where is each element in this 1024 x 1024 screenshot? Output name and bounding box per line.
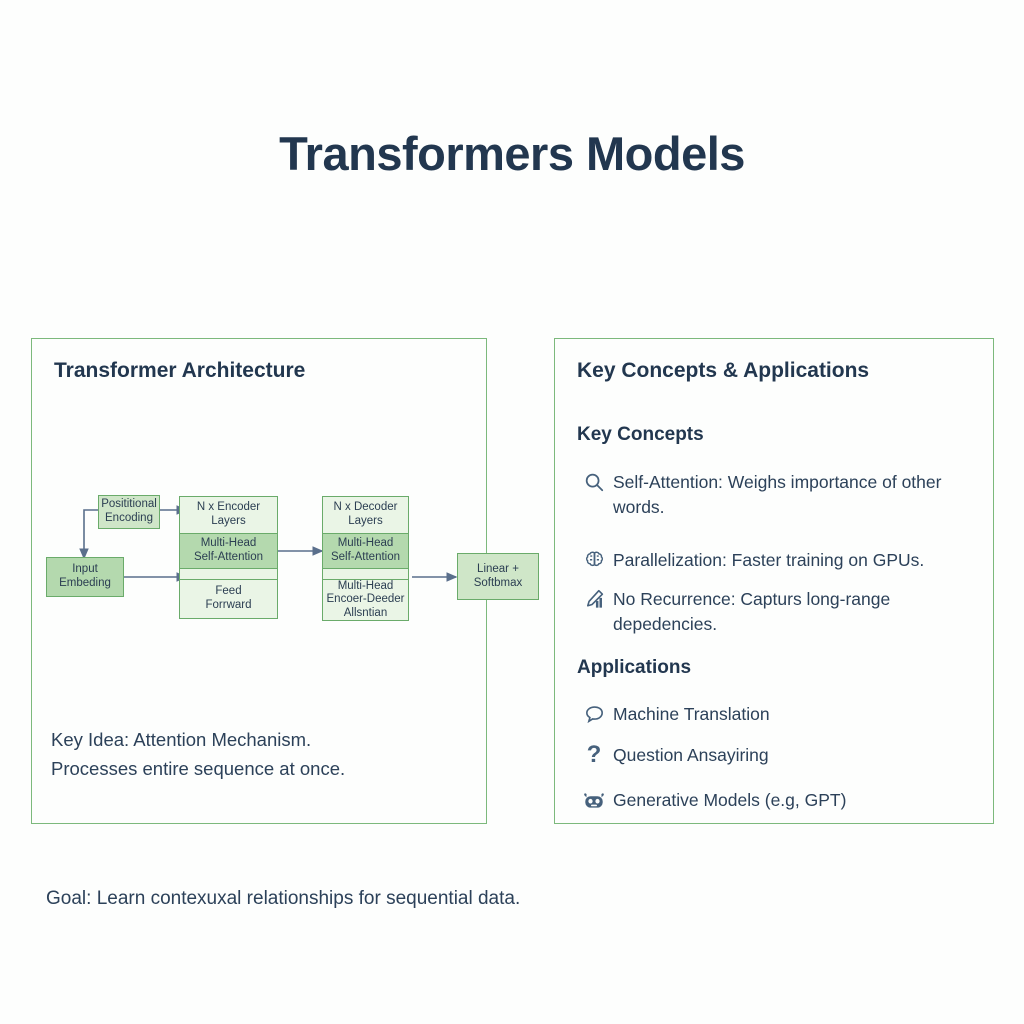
box-feed-forward: Feed Forrward	[179, 579, 278, 619]
box-linear-softmax: Linear + Softbmax	[457, 553, 539, 600]
application-item-generative-models: Generative Models (e.g, GPT)	[575, 787, 979, 813]
application-item-machine-translation-label: Machine Translation	[613, 701, 770, 727]
application-item-question-answering: ? Question Ansayiring	[575, 742, 979, 768]
box-encoder-layers: N x Encoder Layers	[179, 496, 278, 534]
key-concepts-applications-card: Key Concepts & Applications Key Concepts…	[554, 338, 994, 824]
key-idea-line-1: Key Idea: Attention Mechanism.	[51, 726, 451, 755]
box-encoder-decoder-attention: Multi-Head Encoer-Deeder Allsntian	[322, 579, 409, 621]
concept-item-self-attention: Self-Attention: Weighs importance of oth…	[575, 469, 979, 521]
robot-icon	[575, 787, 613, 813]
box-linear-softmax-label: Linear + Softbmax	[474, 563, 523, 590]
concept-item-no-recurrence-label: No Recurrence: Capturs long-range depede…	[613, 586, 979, 638]
footer-goal-text: Goal: Learn contexuxal relationships for…	[46, 888, 520, 910]
brain-icon	[575, 547, 613, 573]
right-card-heading: Key Concepts & Applications	[577, 359, 869, 383]
box-encoder-layers-label: N x Encoder Layers	[197, 501, 260, 528]
box-feed-forward-label: Feed Forrward	[205, 585, 251, 612]
key-idea-line-2: Processes entire sequence at once.	[51, 755, 451, 784]
box-encoder-self-attention-label: Multi-Head Self-Attention	[194, 537, 263, 564]
key-concepts-heading: Key Concepts	[577, 424, 704, 446]
speech-bubble-icon	[575, 701, 613, 727]
concept-item-parallelization-label: Parallelization: Faster training on GPUs…	[613, 547, 924, 573]
concept-item-self-attention-label: Self-Attention: Weighs importance of oth…	[613, 469, 979, 521]
box-decoder-layers-label: N x Decoder Layers	[334, 501, 398, 528]
pencil-chart-icon	[575, 586, 613, 612]
application-item-question-answering-label: Question Ansayiring	[613, 742, 769, 768]
application-item-generative-models-label: Generative Models (e.g, GPT)	[613, 787, 846, 813]
box-encoder-decoder-attention-label: Multi-Head Encoer-Deeder Allsntian	[327, 580, 405, 621]
box-input-embedding-label: Input Embeding	[59, 563, 111, 590]
concept-item-parallelization: Parallelization: Faster training on GPUs…	[575, 547, 979, 573]
magnifier-icon	[575, 469, 613, 495]
box-decoder-layers: N x Decoder Layers	[322, 496, 409, 534]
applications-heading: Applications	[577, 657, 691, 679]
box-encoder-self-attention: Multi-Head Self-Attention	[179, 533, 278, 569]
concept-item-no-recurrence: No Recurrence: Capturs long-range depede…	[575, 586, 979, 638]
box-input-embedding: Input Embeding	[46, 557, 124, 597]
application-item-machine-translation: Machine Translation	[575, 701, 979, 727]
question-mark-icon: ?	[575, 742, 613, 768]
box-positional-encoding-label: Posititional Encoding	[101, 498, 157, 525]
box-decoder-self-attention: Multi-Head Self-Attention	[322, 533, 409, 569]
box-decoder-self-attention-label: Multi-Head Self-Attention	[331, 537, 400, 564]
key-idea-text: Key Idea: Attention Mechanism. Processes…	[51, 726, 451, 783]
box-positional-encoding: Posititional Encoding	[98, 495, 160, 529]
